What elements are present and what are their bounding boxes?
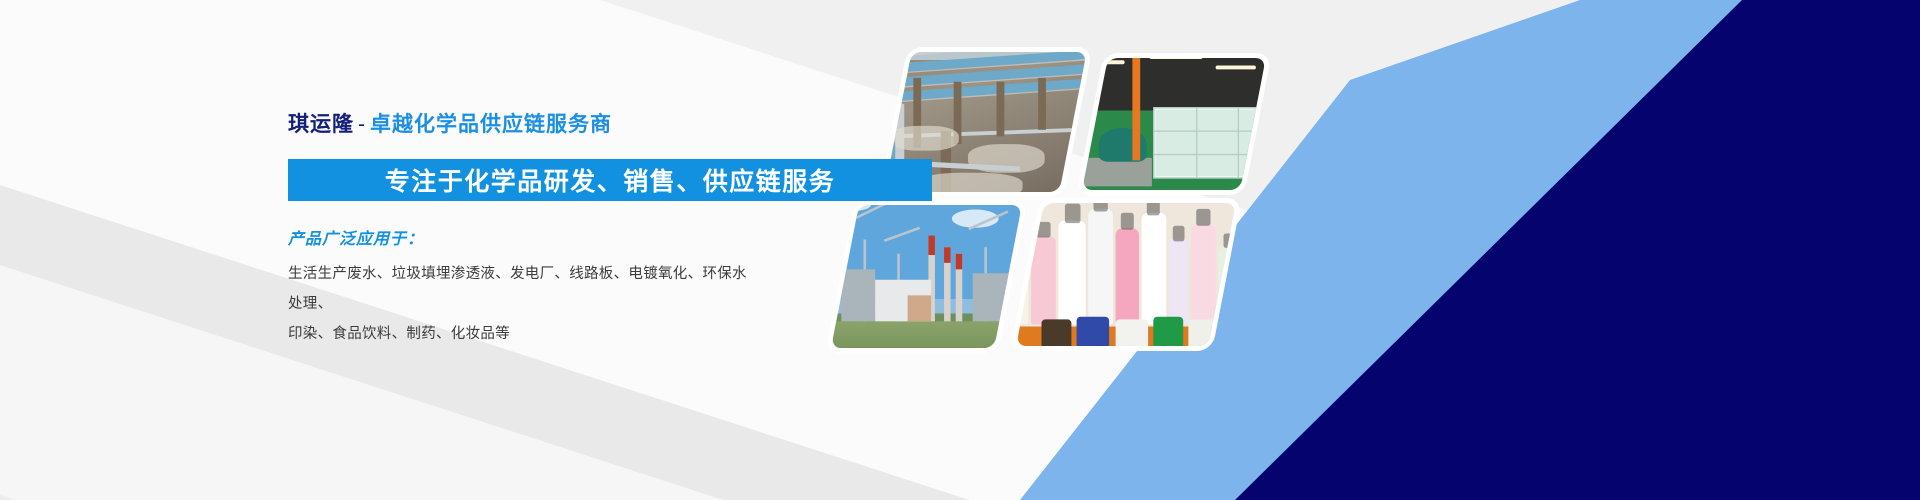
applications-body: 生活生产废水、垃圾填埋渗透液、发电厂、线路板、电镀氧化、环保水处理、 印染、食品… — [288, 259, 758, 349]
text-content-column: 琪运隆-卓越化学品供应链服务商 专注于化学品研发、销售、供应链服务 产品广泛应用… — [288, 0, 988, 500]
headline-tagline: 卓越化学品供应链服务商 — [370, 113, 612, 136]
applications-line-2: 印染、食品饮料、制药、化妆品等 — [288, 319, 758, 349]
headline-separator: - — [354, 113, 370, 136]
applications-title: 产品广泛应用于： — [288, 225, 424, 249]
slogan-text: 专注于化学品研发、销售、供应链服务 — [385, 162, 836, 198]
page-headline: 琪运隆-卓越化学品供应链服务商 — [288, 108, 612, 138]
hero-banner: 琪运隆-卓越化学品供应链服务商 专注于化学品研发、销售、供应链服务 产品广泛应用… — [0, 0, 1920, 500]
photo-cosmetics-products — [1016, 203, 1236, 346]
applications-line-1: 生活生产废水、垃圾填埋渗透液、发电厂、线路板、电镀氧化、环保水处理、 — [288, 259, 758, 319]
brand-name: 琪运隆 — [288, 113, 354, 136]
slogan-banner: 专注于化学品研发、销售、供应链服务 — [288, 159, 932, 201]
photo-chemical-factory-tanks — [1082, 58, 1266, 190]
